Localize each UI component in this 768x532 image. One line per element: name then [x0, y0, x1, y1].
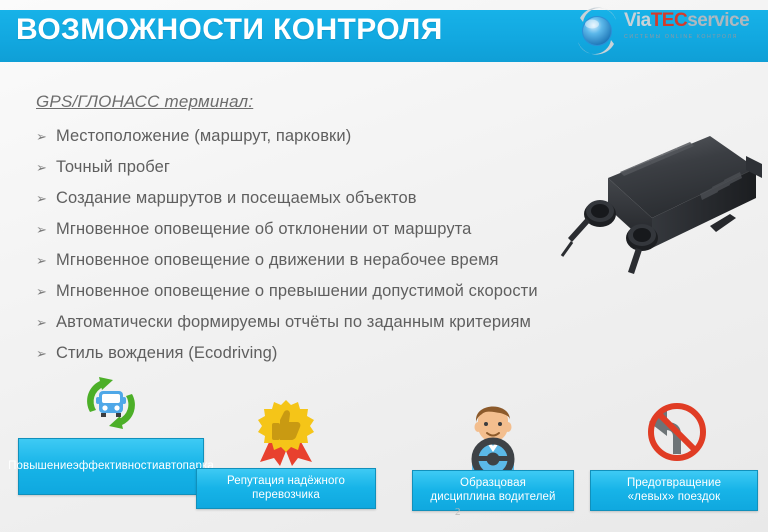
content-subtitle: GPS/ГЛОНАСС терминал: [36, 92, 676, 112]
benefit-label-chip[interactable]: Репутация надёжного перевозчика [196, 468, 376, 509]
benefit-carrier-reputation[interactable]: Репутация надёжного перевозчика [196, 396, 376, 509]
logo-tagline: СИСТЕМЫ ONLINE КОНТРОЛЯ [624, 34, 760, 40]
benefit-label-line2: эффективности [73, 459, 159, 473]
benefit-icon-wrap [412, 396, 574, 470]
list-item-label: Мгновенное оповещение о движении в нераб… [56, 250, 499, 271]
blue-sphere-swirl-icon [572, 6, 622, 56]
benefit-label-line1: Репутация надёжного [203, 474, 369, 488]
arrow-bullet-icon: ➢ [36, 251, 56, 271]
benefit-label-line1: Повышение [8, 459, 73, 473]
arrow-bullet-icon: ➢ [36, 220, 56, 240]
page-number: 2 [455, 506, 461, 518]
gold-badge-thumbs-up-icon [250, 396, 322, 468]
benefit-label-chip[interactable]: Образцовая дисциплина водителей [412, 470, 574, 511]
driver-steering-wheel-icon [456, 396, 530, 470]
logo-part-tec: TEC [651, 10, 688, 31]
list-item-label: Местоположение (маршрут, парковки) [56, 126, 351, 147]
benefit-fleet-efficiency[interactable]: Повышение эффективности автопарка [18, 368, 204, 495]
gps-terminal-image [560, 126, 764, 291]
benefit-label-line2: перевозчика [203, 488, 369, 502]
benefit-icon-wrap [196, 396, 376, 468]
arrow-bullet-icon: ➢ [36, 313, 56, 333]
benefit-icon-wrap [590, 396, 758, 470]
list-item-label: Стиль вождения (Ecodriving) [56, 343, 278, 364]
logo-part-service: service [687, 10, 749, 31]
logo-wordmark: ViaTECservice [624, 10, 760, 32]
arrow-bullet-icon: ➢ [36, 158, 56, 178]
benefit-icon-wrap [18, 368, 204, 438]
benefits-row: Повышение эффективности автопарка Репута… [0, 368, 768, 508]
list-item-label: Точный пробег [56, 157, 170, 178]
logo-text-block: ViaTECservice СИСТЕМЫ ONLINE КОНТРОЛЯ [624, 10, 760, 40]
benefit-label-line1: Предотвращение [597, 476, 751, 490]
list-item-label: Автоматически формируемы отчёты по задан… [56, 312, 531, 333]
bus-recycle-arrows-icon [76, 368, 146, 438]
benefit-label-chip[interactable]: Повышение эффективности автопарка [18, 438, 204, 495]
list-item-label: Создание маршрутов и посещаемых объектов [56, 188, 417, 209]
list-item: ➢ Автоматически формируемы отчёты по зад… [36, 312, 676, 333]
list-item: ➢ Стиль вождения (Ecodriving) [36, 343, 676, 364]
logo-part-via: Via [624, 10, 651, 31]
list-item-label: Мгновенное оповещение об отклонении от м… [56, 219, 471, 240]
benefit-label-line2: дисциплина водителей [419, 490, 567, 504]
benefit-label-chip[interactable]: Предотвращение «левых» поездок [590, 470, 758, 511]
benefit-prevent-unauthorized-trips[interactable]: Предотвращение «левых» поездок [590, 396, 758, 511]
page-title: ВОЗМОЖНОСТИ КОНТРОЛЯ [16, 13, 443, 47]
arrow-bullet-icon: ➢ [36, 344, 56, 364]
arrow-bullet-icon: ➢ [36, 189, 56, 209]
arrow-bullet-icon: ➢ [36, 282, 56, 302]
benefit-label-line1: Образцовая [419, 476, 567, 490]
arrow-bullet-icon: ➢ [36, 127, 56, 147]
benefit-driver-discipline[interactable]: Образцовая дисциплина водителей [412, 396, 574, 511]
list-item-label: Мгновенное оповещение о превышении допус… [56, 281, 538, 302]
no-left-turn-prohibited-icon [637, 396, 711, 470]
slide: ВОЗМОЖНОСТИ КОНТРОЛЯ ViaTECservice СИСТЕ… [0, 0, 768, 532]
benefit-label-line2: «левых» поездок [597, 490, 751, 504]
company-logo: ViaTECservice СИСТЕМЫ ONLINE КОНТРОЛЯ [566, 2, 762, 60]
